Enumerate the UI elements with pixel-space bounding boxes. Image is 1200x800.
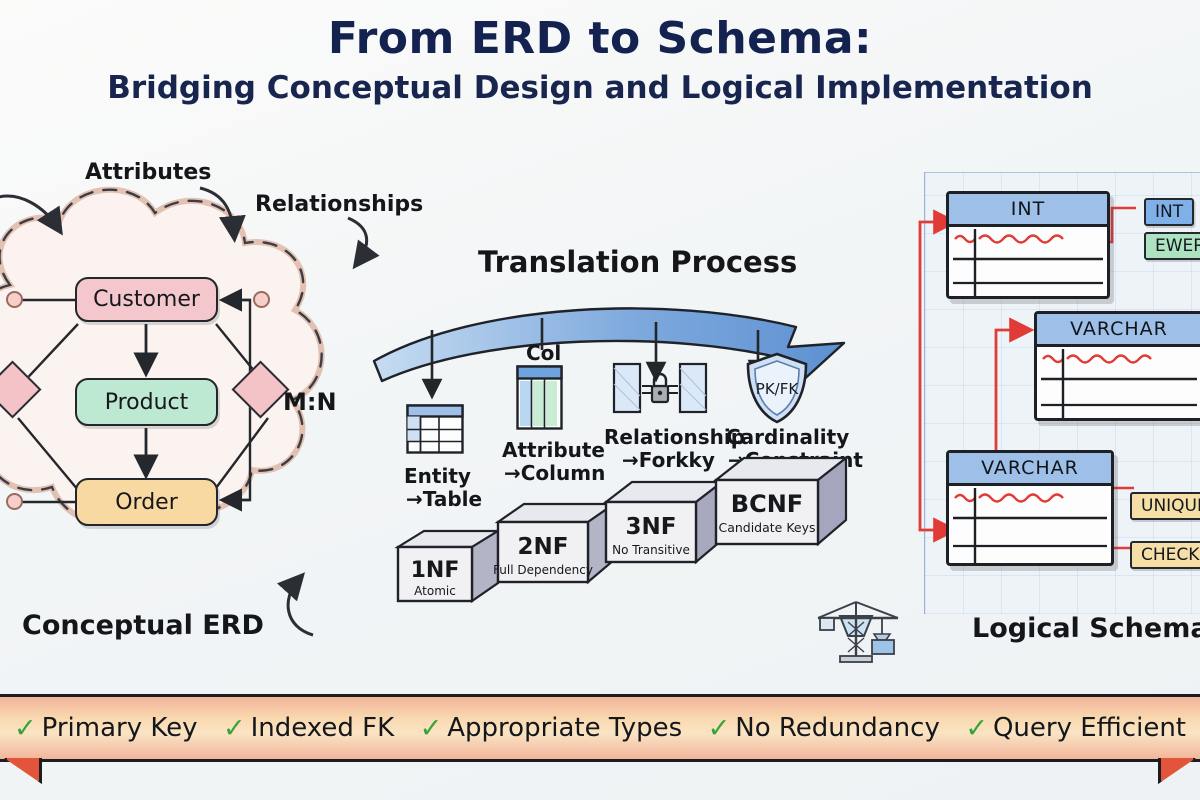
table-varchar-1-header: VARCHAR [1037, 314, 1200, 347]
step-cardinality-line1: Cardinality [726, 425, 849, 449]
conceptual-erd-label: Conceptual ERD [22, 610, 264, 641]
entity-product-label: Product [105, 390, 189, 415]
checklist-ribbon: ✓ Primary Key ✓ Indexed FK ✓ Appropriate… [0, 694, 1200, 762]
svg-text:3NF: 3NF [626, 514, 677, 540]
normal-form-block-1nf: 1NF Atomic [392, 525, 500, 611]
entity-customer[interactable]: Customer [75, 277, 218, 322]
table-varchar-1[interactable]: VARCHAR [1034, 311, 1200, 421]
attribute-dot-icon [6, 291, 23, 308]
svg-text:No Transitive: No Transitive [612, 543, 690, 557]
translation-process-heading: Translation Process [478, 245, 797, 279]
table-grid-icon [406, 404, 464, 458]
svg-text:1NF: 1NF [411, 558, 460, 583]
checklist-item-primary-key: ✓ Primary Key [14, 713, 198, 744]
entity-product[interactable]: Product [75, 378, 218, 426]
check-icon: ✓ [14, 713, 37, 744]
illustration-canvas: From ERD to Schema: Bridging Conceptual … [0, 0, 1200, 800]
svg-text:BCNF: BCNF [731, 490, 803, 518]
step-entity-to-table-line1: Entity [404, 464, 471, 488]
conceptual-erd-pointer-arrow [255, 565, 345, 640]
checklist-label-query-efficient: Query Efficient [993, 713, 1186, 743]
table-int-header: INT [949, 194, 1107, 227]
cardinality-mn-label: M:N [283, 388, 337, 416]
column-icon [516, 365, 563, 434]
svg-text:2NF: 2NF [518, 534, 569, 560]
svg-text:Full Dependency: Full Dependency [493, 563, 593, 577]
lock-link-icon [612, 362, 708, 426]
normal-form-block-3nf: 3NF No Transitive [600, 476, 726, 572]
badge-check[interactable]: CHECK [1130, 541, 1200, 569]
attribute-dot-icon [6, 493, 23, 510]
title-main-text: From ERD to Schema: [0, 16, 1200, 62]
check-icon: ✓ [420, 713, 443, 744]
table-int[interactable]: INT [946, 191, 1110, 299]
page-title: From ERD to Schema: Bridging Conceptual … [0, 16, 1200, 106]
entity-order[interactable]: Order [75, 478, 218, 526]
checklist-label-no-redundancy: No Redundancy [735, 713, 940, 743]
step-relationship-to-forkey-line2: →Forkky [622, 448, 715, 472]
svg-text:Atomic: Atomic [414, 584, 456, 598]
check-icon: ✓ [965, 713, 988, 744]
step-attribute-to-column-line2: →Column [504, 461, 605, 485]
step-attribute-to-column-line1: Attribute [502, 438, 605, 462]
title-subtitle-text: Bridging Conceptual Design and Logical I… [0, 70, 1200, 106]
entity-customer-label: Customer [93, 287, 200, 312]
badge-unique[interactable]: UNIQUE [1130, 492, 1200, 520]
logical-schema-label: Logical Schema [972, 613, 1200, 644]
checklist-item-appropriate-types: ✓ Appropriate Types [420, 713, 683, 744]
entity-order-label: Order [115, 490, 178, 515]
checklist-label-indexed-fk: Indexed FK [251, 713, 395, 743]
checklist-label-primary-key: Primary Key [42, 713, 198, 743]
step-entity-to-table-line2: →Table [406, 487, 482, 511]
step-relationship-to-forkey-line1: Relationship [604, 425, 745, 449]
check-icon: ✓ [708, 713, 731, 744]
checklist-label-appropriate-types: Appropriate Types [447, 713, 682, 743]
svg-text:PK/FK: PK/FK [756, 380, 800, 398]
svg-text:Candidate Keys: Candidate Keys [718, 520, 815, 535]
normal-form-block-2nf: 2NF Full Dependency [492, 498, 616, 592]
check-icon: ✓ [223, 713, 246, 744]
attribute-dot-icon [253, 291, 270, 308]
checklist-item-no-redundancy: ✓ No Redundancy [708, 713, 940, 744]
badge-ewer[interactable]: EWER [1144, 232, 1200, 260]
normal-form-block-bcnf: BCNF Candidate Keys [710, 452, 850, 556]
step-attribute-col-caption: Col [526, 341, 561, 365]
table-varchar-2-header: VARCHAR [949, 453, 1111, 486]
checklist-item-query-efficient: ✓ Query Efficient [965, 713, 1186, 744]
table-varchar-2[interactable]: VARCHAR [946, 450, 1114, 566]
shield-icon: PK/FK [744, 352, 810, 428]
construction-crane-icon [812, 588, 904, 670]
checklist-item-indexed-fk: ✓ Indexed FK [223, 713, 394, 744]
badge-int[interactable]: INT [1144, 198, 1194, 226]
